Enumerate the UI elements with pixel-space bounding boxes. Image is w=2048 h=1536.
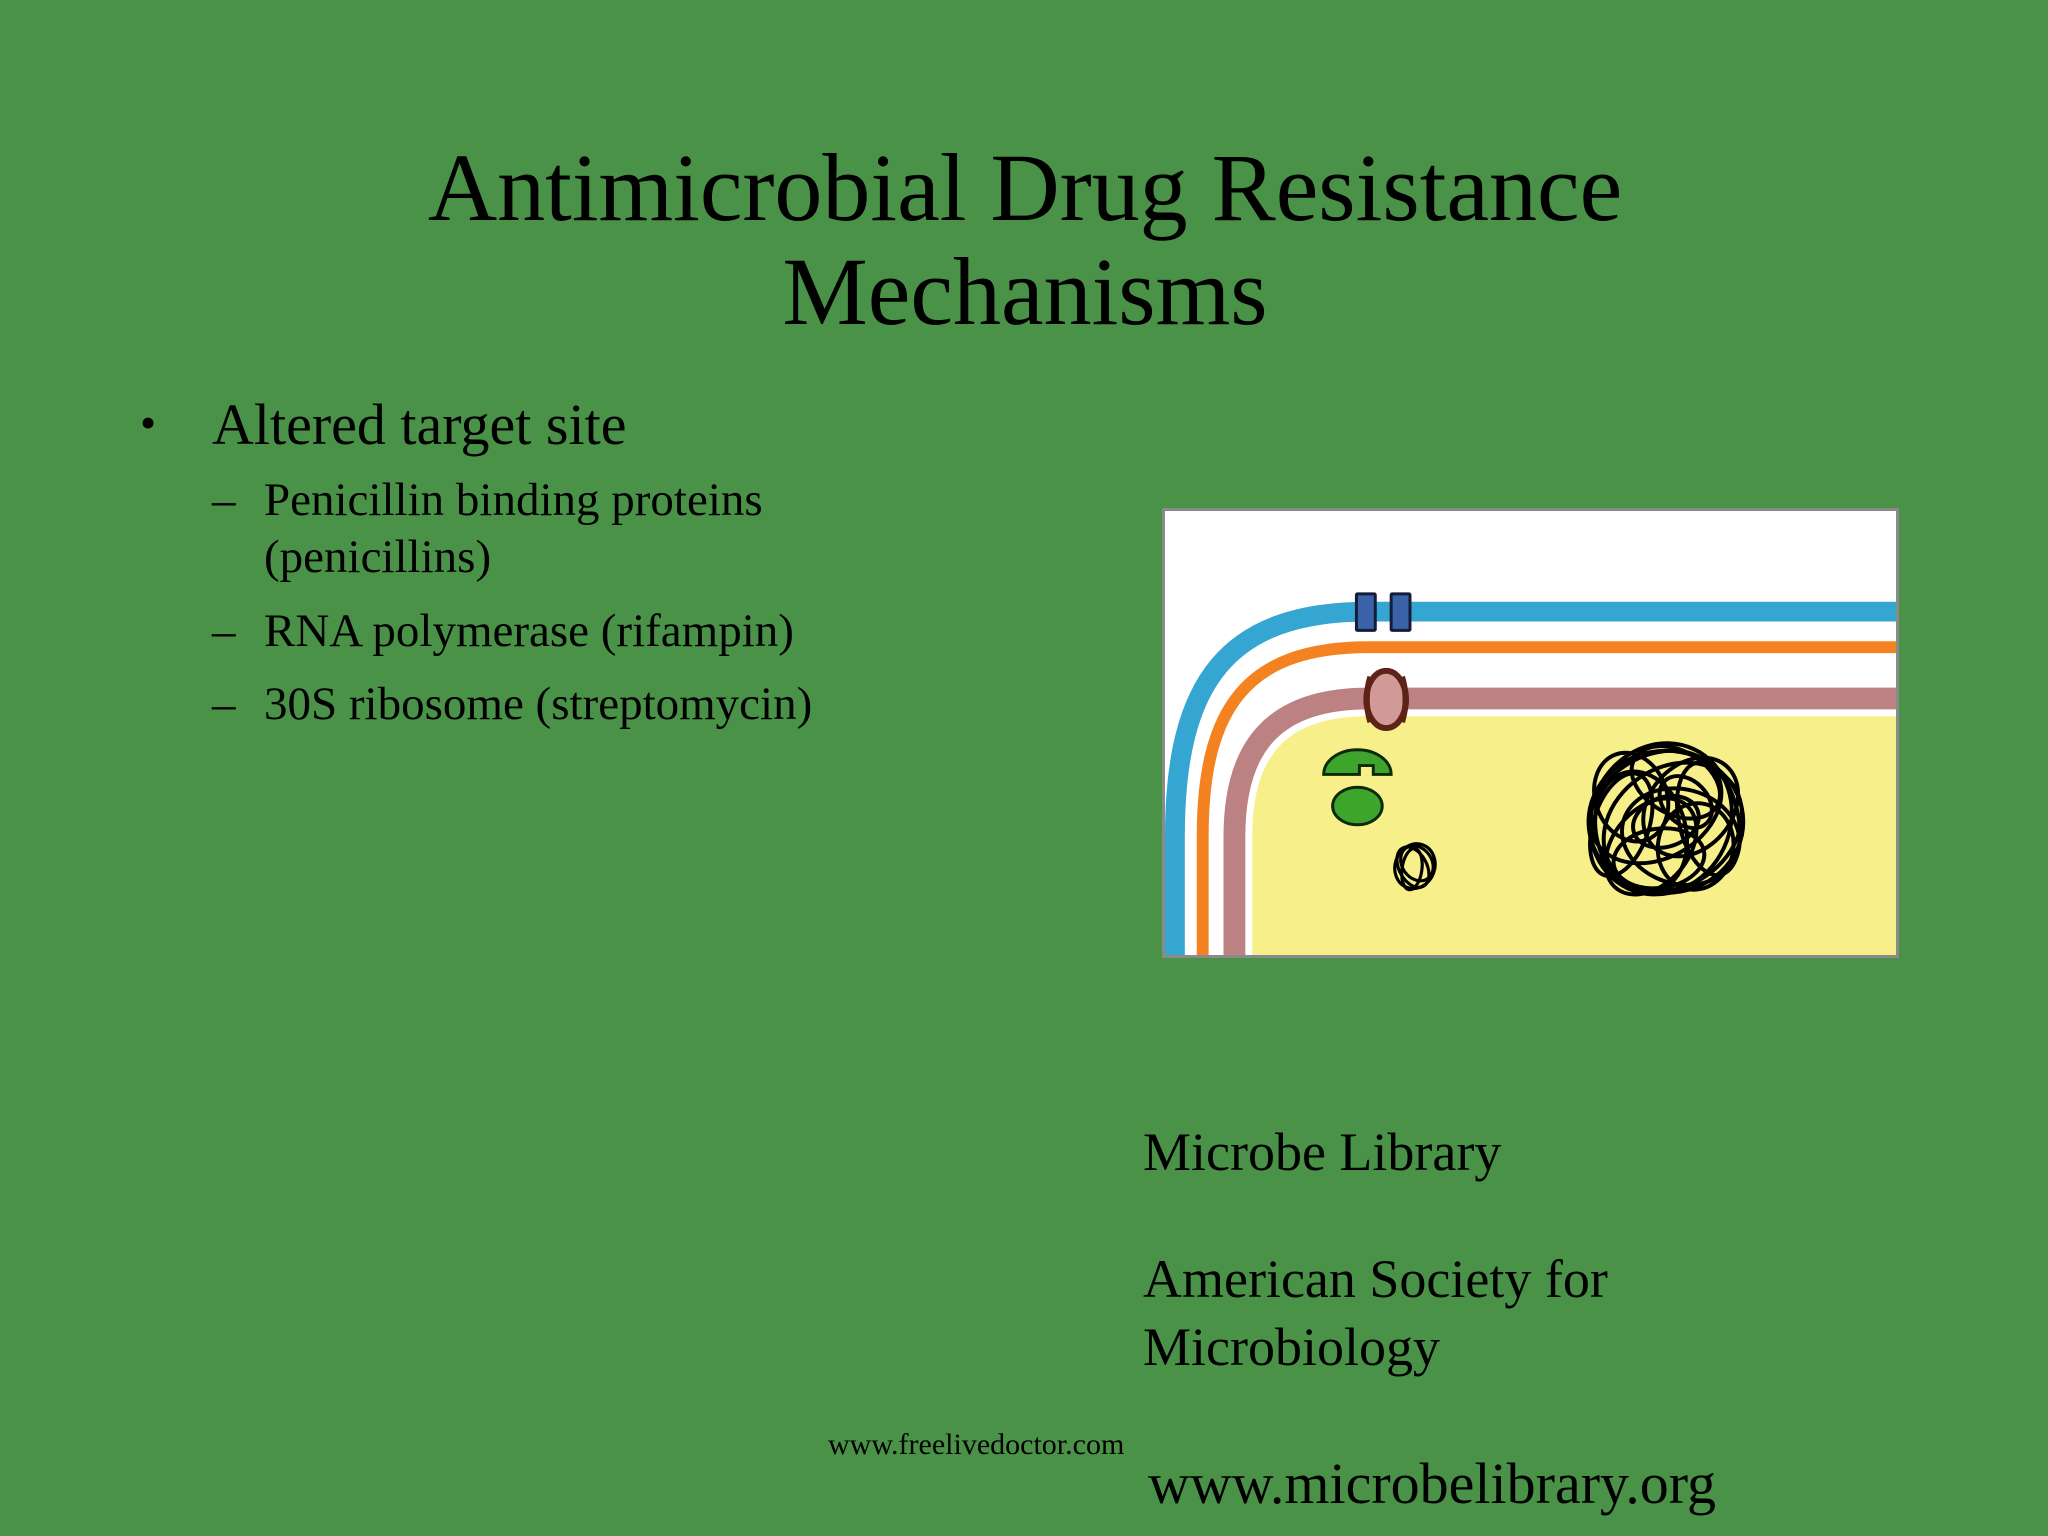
slide-canvas: Antimicrobial Drug Resistance Mechanisms… [0, 0, 2048, 1536]
figure-caption-organization-line-1: American Society for [1143, 1249, 1608, 1309]
content-body: • Altered target site – Penicillin bindi… [140, 392, 920, 749]
source-url: www.microbelibrary.org [1148, 1452, 1716, 1516]
porin-right-wall [1402, 677, 1405, 722]
porin-left-wall [1367, 677, 1370, 722]
figure-caption-organization: American Society for Microbiology [1143, 1246, 1843, 1381]
bullet-marker-dot: • [140, 392, 212, 454]
bacterial-cell-illustration-svg [1165, 511, 1896, 955]
sub-bullet-label-penicillin-binding-proteins: Penicillin binding proteins (penicillins… [264, 472, 844, 587]
sub-bullet-marker-dash: – [212, 472, 264, 529]
membrane-protein-right-icon [1391, 594, 1410, 631]
page-title-line-2: Mechanisms [782, 238, 1267, 345]
page-title-line-1: Antimicrobial Drug Resistance [428, 134, 1622, 241]
bacterial-cell-diagram [1162, 508, 1899, 958]
sub-bullet-marker-dash: – [212, 603, 264, 660]
ribosome-small-subunit-icon [1333, 787, 1383, 824]
figure-caption-organization-line-2: Microbiology [1143, 1317, 1440, 1377]
sub-bullet-label-30s-ribosome: 30S ribosome (streptomycin) [264, 676, 844, 733]
page-title: Antimicrobial Drug Resistance Mechanisms [120, 136, 1930, 343]
sub-bullet-item-30s-ribosome: – 30S ribosome (streptomycin) [212, 676, 920, 733]
bullet-item-altered-target-site: • Altered target site [140, 392, 920, 458]
sub-bullet-marker-dash: – [212, 676, 264, 733]
sub-bullet-list: – Penicillin binding proteins (penicilli… [212, 472, 920, 733]
bullet-label-altered-target-site: Altered target site [212, 392, 920, 458]
sub-bullet-label-rna-polymerase: RNA polymerase (rifampin) [264, 603, 844, 660]
figure-caption-source: Microbe Library [1143, 1122, 1501, 1182]
watermark-url: www.freelivedoctor.com [828, 1428, 1124, 1461]
sub-bullet-item-rna-polymerase: – RNA polymerase (rifampin) [212, 603, 920, 660]
sub-bullet-item-penicillin-binding-proteins: – Penicillin binding proteins (penicilli… [212, 472, 920, 587]
membrane-protein-left-icon [1356, 594, 1375, 631]
